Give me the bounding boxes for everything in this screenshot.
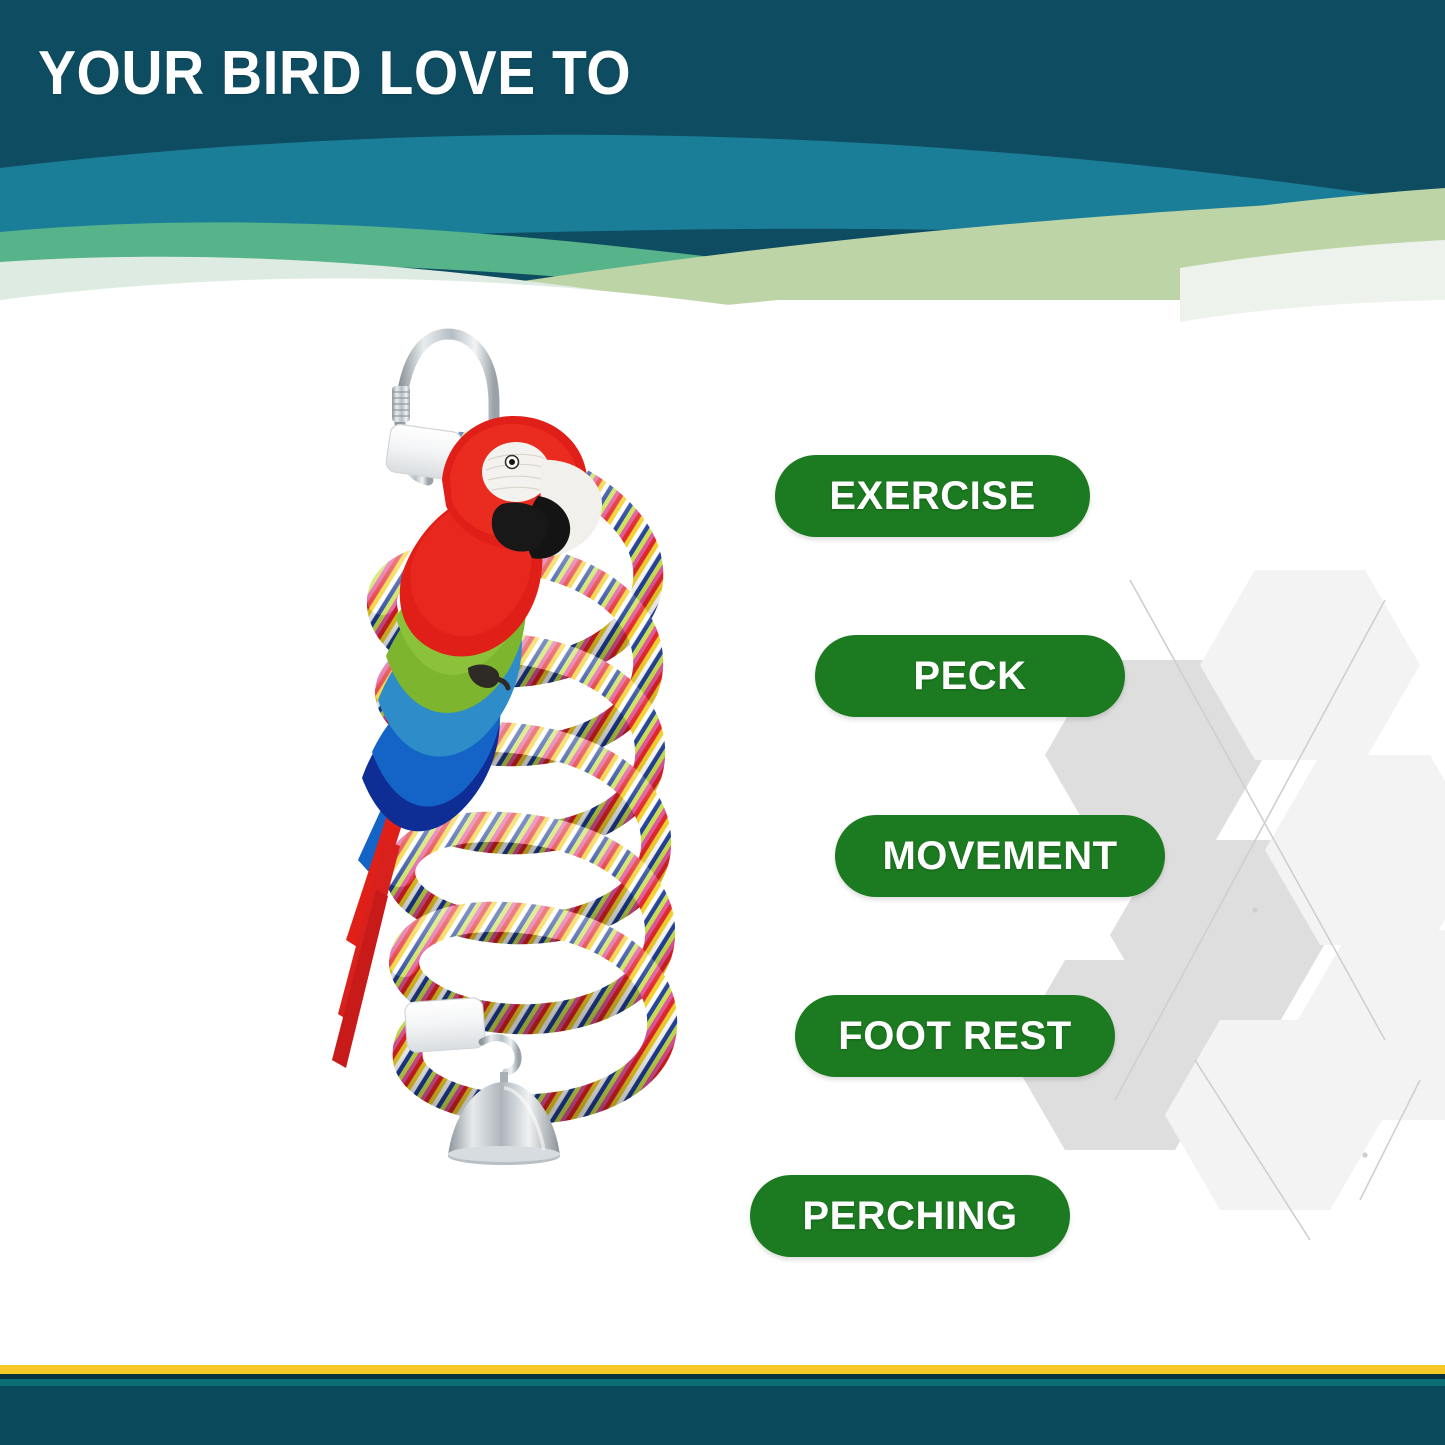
plastic-end-cap-bottom [404,997,485,1052]
footer-fill [0,1386,1445,1445]
footer-gold-rule [0,1365,1445,1374]
page-title: YOUR BIRD LOVE TO [38,38,631,110]
feature-pill-label: MOVEMENT [882,834,1117,879]
feature-pill-foot-rest[interactable]: FOOT REST [795,995,1115,1077]
feature-pill-label: PERCHING [802,1194,1017,1239]
feature-pill-movement[interactable]: MOVEMENT [835,815,1165,897]
footer-teal-rule [0,1379,1445,1386]
feature-pill-list: EXERCISE PECK MOVEMENT FOOT REST PERCHIN… [740,440,1200,1280]
footer-band [0,1365,1445,1445]
feature-pill-exercise[interactable]: EXERCISE [775,455,1090,537]
header-band: YOUR BIRD LOVE TO [0,0,1445,330]
feature-pill-peck[interactable]: PECK [815,635,1125,717]
feature-pill-label: EXERCISE [829,474,1035,519]
product-image-spiral-rope-perch [250,300,730,1340]
feature-pill-perching[interactable]: PERCHING [750,1175,1070,1257]
feature-pill-label: PECK [913,654,1026,699]
feature-pill-label: FOOT REST [838,1014,1071,1059]
